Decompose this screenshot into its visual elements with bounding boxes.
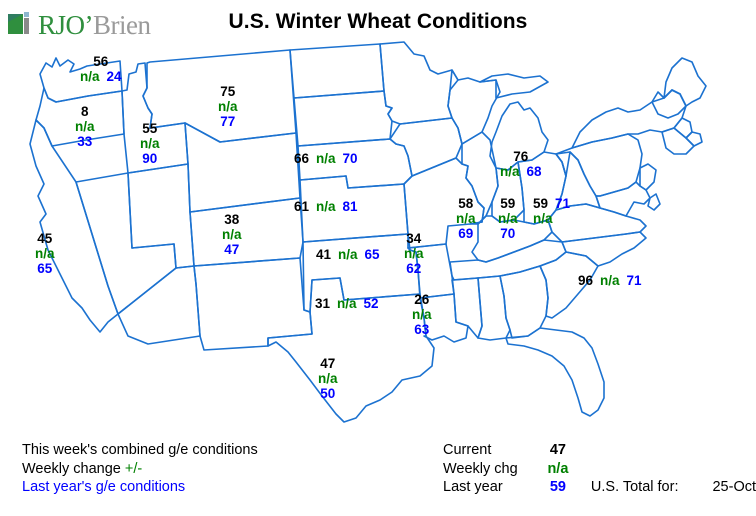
- page-title: U.S. Winter Wheat Conditions: [0, 10, 756, 34]
- current-value: 66: [294, 151, 309, 166]
- legend-total-label: U.S. Total for:: [587, 478, 679, 497]
- state-label-ne: 61n/a81: [294, 199, 358, 214]
- state-current-tx: 47: [318, 356, 338, 371]
- last-year-value: 68: [527, 164, 542, 179]
- legend-row-current: Current 47: [443, 441, 756, 460]
- weekly-change-value: n/a: [498, 211, 518, 226]
- state-values-sd: 66n/a70: [294, 151, 358, 166]
- legend-spacer-2: [678, 441, 756, 460]
- weekly-change-value: n/a: [412, 307, 432, 322]
- state-label-id: 55n/a90: [140, 121, 160, 166]
- state-borders: [30, 42, 706, 422]
- legend-weekly-line: Weekly change +/-: [22, 460, 258, 479]
- legend-weekly-text: Weekly change: [22, 461, 125, 477]
- state-current-co: 38: [222, 212, 242, 227]
- state-lastyear-co: 47: [222, 242, 242, 257]
- legend-weekly-sign: +/-: [125, 461, 142, 477]
- weekly-change-value: n/a: [600, 273, 620, 288]
- current-value: 31: [315, 296, 330, 311]
- last-year-value: 65: [37, 261, 52, 276]
- state-lastyear-mo: 62: [404, 261, 424, 276]
- state-current-ar: 26: [412, 292, 432, 307]
- state-weekly-mt: n/a: [218, 99, 238, 114]
- state-values-ks: 41n/a65: [316, 247, 380, 262]
- weekly-change-value: n/a: [35, 246, 55, 261]
- current-value: 96: [578, 273, 593, 288]
- current-value: 58: [458, 196, 473, 211]
- last-year-value: 65: [365, 247, 380, 262]
- last-year-value: 81: [343, 199, 358, 214]
- current-value: 41: [316, 247, 331, 262]
- last-year-value: 47: [224, 242, 239, 257]
- current-value: 76: [513, 149, 528, 164]
- us-map: [0, 36, 756, 446]
- state-weekly-ar: n/a: [412, 307, 432, 322]
- current-value: 55: [142, 121, 157, 136]
- state-weekly-il: n/a: [456, 211, 476, 226]
- legend-spacer-3: [587, 460, 679, 479]
- last-year-value: 71: [627, 273, 642, 288]
- state-current-or: 8: [75, 104, 95, 119]
- legend-lastyear-line: Last year's g/e conditions: [22, 478, 258, 497]
- current-value: 75: [220, 84, 235, 99]
- last-year-value: 69: [458, 226, 473, 241]
- state-label-ar: 26n/a63: [412, 292, 432, 337]
- legend-weekly-value: n/a: [529, 460, 587, 479]
- state-current-mi: 76: [500, 149, 542, 164]
- weekly-change-value: n/a: [75, 119, 95, 134]
- us-map-svg: [0, 36, 756, 446]
- state-label-or: 8n/a33: [75, 104, 95, 149]
- state-values-wa: n/a24: [80, 69, 122, 84]
- weekly-change-value: n/a: [533, 211, 553, 226]
- state-label-sd: 66n/a70: [294, 151, 358, 166]
- weekly-change-value: n/a: [338, 247, 358, 262]
- legend-spacer-1: [587, 441, 679, 460]
- current-value: 47: [320, 356, 335, 371]
- last-year-value: 52: [364, 296, 379, 311]
- legend-current-line: This week's combined g/e conditions: [22, 441, 258, 460]
- state-values-ok: 31n/a52: [315, 296, 379, 311]
- last-year-value: 71: [555, 196, 570, 211]
- weekly-change-value: n/a: [318, 371, 338, 386]
- weekly-change-value: n/a: [218, 99, 238, 114]
- state-weekly-oh: n/a: [533, 211, 570, 226]
- state-weekly-id: n/a: [140, 136, 160, 151]
- last-year-value: 70: [500, 226, 515, 241]
- state-label-nc: 96n/a71: [578, 273, 642, 288]
- last-year-value: 50: [320, 386, 335, 401]
- state-label-ks: 41n/a65: [316, 247, 380, 262]
- state-lastyear-ar: 63: [412, 322, 432, 337]
- state-weekly-ca: n/a: [35, 246, 55, 261]
- state-current-in: 59: [498, 196, 518, 211]
- weekly-change-value: n/a: [500, 164, 520, 179]
- state-label-ca: 45n/a65: [35, 231, 55, 276]
- state-label-mi: 76n/a68: [500, 149, 542, 179]
- state-current-wa: 56: [80, 54, 122, 69]
- weekly-change-value: n/a: [140, 136, 160, 151]
- state-values-ne: 61n/a81: [294, 199, 358, 214]
- last-year-value: 70: [343, 151, 358, 166]
- weekly-change-value: n/a: [456, 211, 476, 226]
- last-year-value: 90: [142, 151, 157, 166]
- legend-row-lastyear: Last year 59 U.S. Total for: 25-Oct: [443, 478, 756, 497]
- legend-lastyear-value: 59: [529, 478, 587, 497]
- legend-row-weekly: Weekly chg n/a: [443, 460, 756, 479]
- state-weekly-mo: n/a: [404, 246, 424, 261]
- state-lastyear-ca: 65: [35, 261, 55, 276]
- state-lastyear-mt: 77: [218, 114, 238, 129]
- weekly-change-value: n/a: [80, 69, 100, 84]
- state-current-il: 58: [456, 196, 476, 211]
- state-label-in: 59n/a70: [498, 196, 518, 241]
- last-year-value: 77: [220, 114, 235, 129]
- current-value: 38: [224, 212, 239, 227]
- state-weekly-tx: n/a: [318, 371, 338, 386]
- state-label-wa: 56n/a24: [80, 54, 122, 84]
- state-lastyear-il: 69: [456, 226, 476, 241]
- state-weekly-or: n/a: [75, 119, 95, 134]
- current-value: 26: [414, 292, 429, 307]
- state-lastyear-tx: 50: [318, 386, 338, 401]
- legend-right: Current 47 Weekly chg n/a Last year 59 U…: [443, 441, 756, 497]
- state-current-mt: 75: [218, 84, 238, 99]
- state-current-id: 55: [140, 121, 160, 136]
- state-current-ca: 45: [35, 231, 55, 246]
- state-label-tx: 47n/a50: [318, 356, 338, 401]
- last-year-value: 62: [406, 261, 421, 276]
- legend-current-value: 47: [529, 441, 587, 460]
- current-value: 34: [406, 231, 421, 246]
- state-weekly-co: n/a: [222, 227, 242, 242]
- weekly-change-value: n/a: [404, 246, 424, 261]
- current-value: 56: [93, 54, 108, 69]
- current-value: 8: [81, 104, 89, 119]
- state-label-mo: 34n/a62: [404, 231, 424, 276]
- legend-total-date: 25-Oct: [678, 478, 756, 497]
- state-label-ok: 31n/a52: [315, 296, 379, 311]
- legend-spacer-4: [678, 460, 756, 479]
- legend-left: This week's combined g/e conditions Week…: [22, 441, 258, 497]
- current-value: 59: [500, 196, 515, 211]
- state-values-nc: 96n/a71: [578, 273, 642, 288]
- state-values-mi: n/a68: [500, 164, 542, 179]
- legend-weekly-label: Weekly chg: [443, 460, 529, 479]
- state-values-oh: 5971: [533, 196, 570, 211]
- state-label-mt: 75n/a77: [218, 84, 238, 129]
- last-year-value: 24: [107, 69, 122, 84]
- legend-current-label: Current: [443, 441, 529, 460]
- state-current-mo: 34: [404, 231, 424, 246]
- last-year-value: 63: [414, 322, 429, 337]
- legend-lastyear-label: Last year: [443, 478, 529, 497]
- state-lastyear-id: 90: [140, 151, 160, 166]
- state-label-il: 58n/a69: [456, 196, 476, 241]
- weekly-change-value: n/a: [316, 151, 336, 166]
- current-value: 45: [37, 231, 52, 246]
- weekly-change-value: n/a: [337, 296, 357, 311]
- state-lastyear-or: 33: [75, 134, 95, 149]
- state-label-co: 38n/a47: [222, 212, 242, 257]
- weekly-change-value: n/a: [316, 199, 336, 214]
- weekly-change-value: n/a: [222, 227, 242, 242]
- last-year-value: 33: [77, 134, 92, 149]
- state-weekly-in: n/a: [498, 211, 518, 226]
- state-label-oh: 5971n/a: [533, 196, 570, 226]
- current-value: 61: [294, 199, 309, 214]
- state-lastyear-in: 70: [498, 226, 518, 241]
- current-value: 59: [533, 196, 548, 211]
